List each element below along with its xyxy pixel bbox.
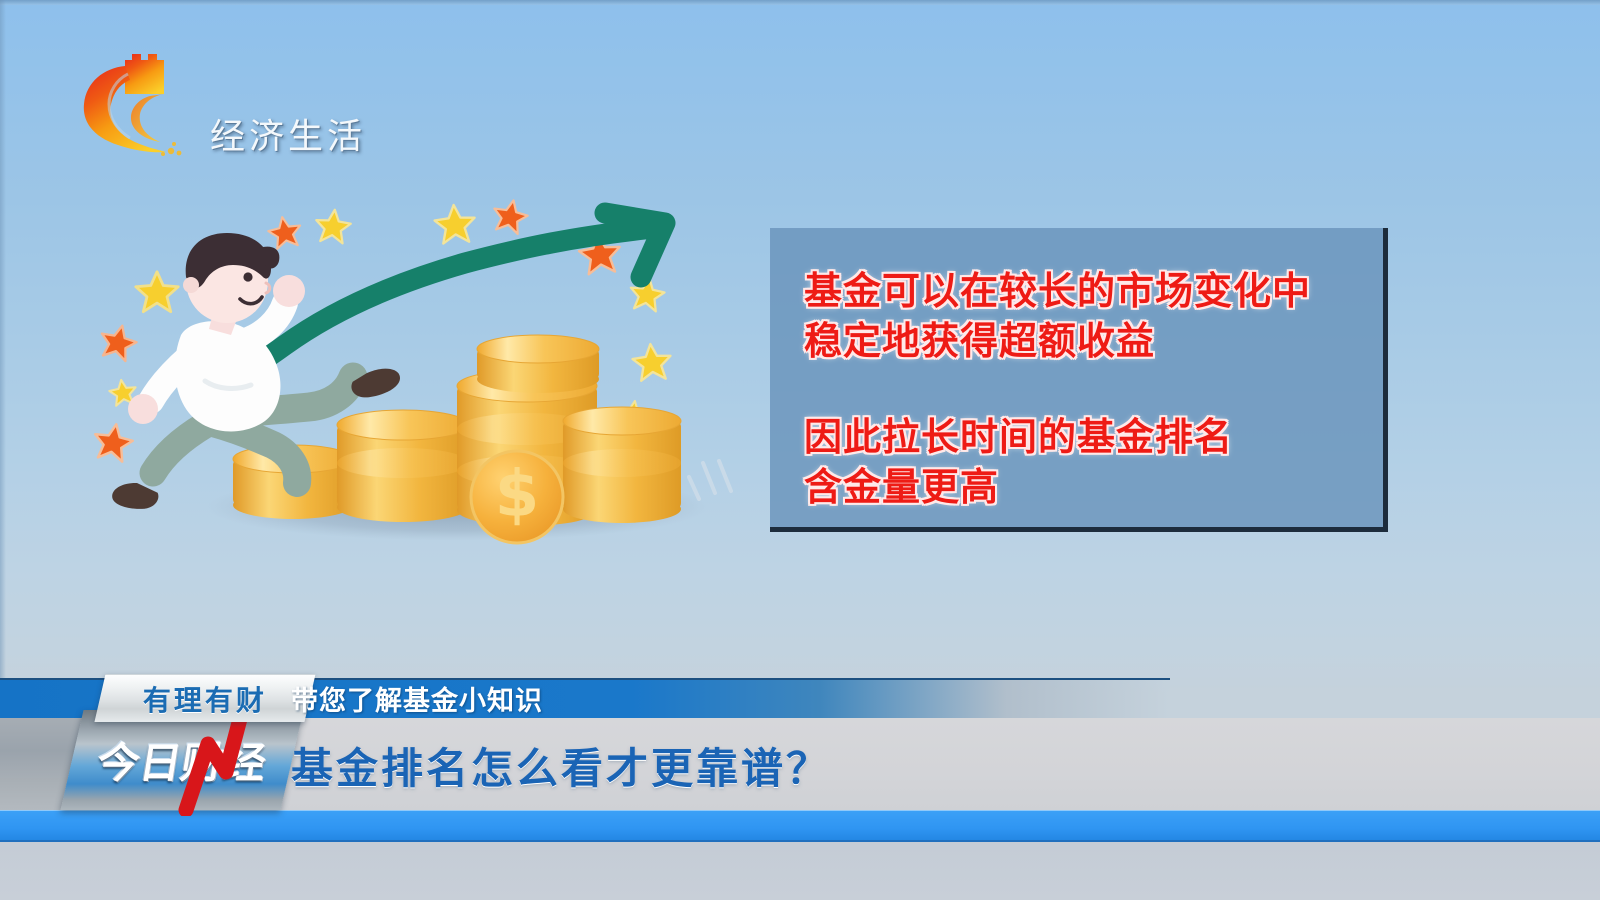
caption-panel: 基金可以在较长的市场变化中 稳定地获得超额收益 因此拉长时间的基金排名 含金量更… <box>770 228 1388 532</box>
dollar-coin-icon: $ <box>471 451 563 543</box>
segment-label-plate: 有理有财 <box>94 674 315 722</box>
panel-line-1: 基金可以在较长的市场变化中 <box>804 266 1383 316</box>
top-letterbox-line <box>0 0 1600 5</box>
panel-line-4: 含金量更高 <box>804 462 1383 512</box>
panel-paragraph-gap <box>804 366 1383 412</box>
channel-logo: 经济生活 <box>78 52 338 162</box>
panel-line-2: 稳定地获得超额收益 <box>804 316 1383 366</box>
broadcast-screen: 经济生活 <box>0 0 1600 900</box>
banner-subtitle: 带您了解基金小知识 <box>291 677 543 719</box>
banner-headline: 基金排名怎么看才更靠谱？ <box>291 722 831 808</box>
illustration-graphic: $ <box>85 185 785 585</box>
segment-label-text: 有理有财 <box>100 675 310 722</box>
great-wall-tower-icon <box>78 52 188 157</box>
left-edge-line <box>0 0 6 680</box>
panel-line-3: 因此拉长时间的基金排名 <box>804 412 1383 462</box>
dollar-symbol: $ <box>495 458 540 532</box>
lower-third-banner: 今日财经 有理有财 带您了解基金小知识 基金排名怎么看才更靠谱？ <box>0 678 1600 900</box>
banner-bottom-band <box>0 842 1600 900</box>
program-logo-badge: 今日财经 <box>60 710 303 810</box>
channel-name: 经济生活 <box>210 109 366 160</box>
